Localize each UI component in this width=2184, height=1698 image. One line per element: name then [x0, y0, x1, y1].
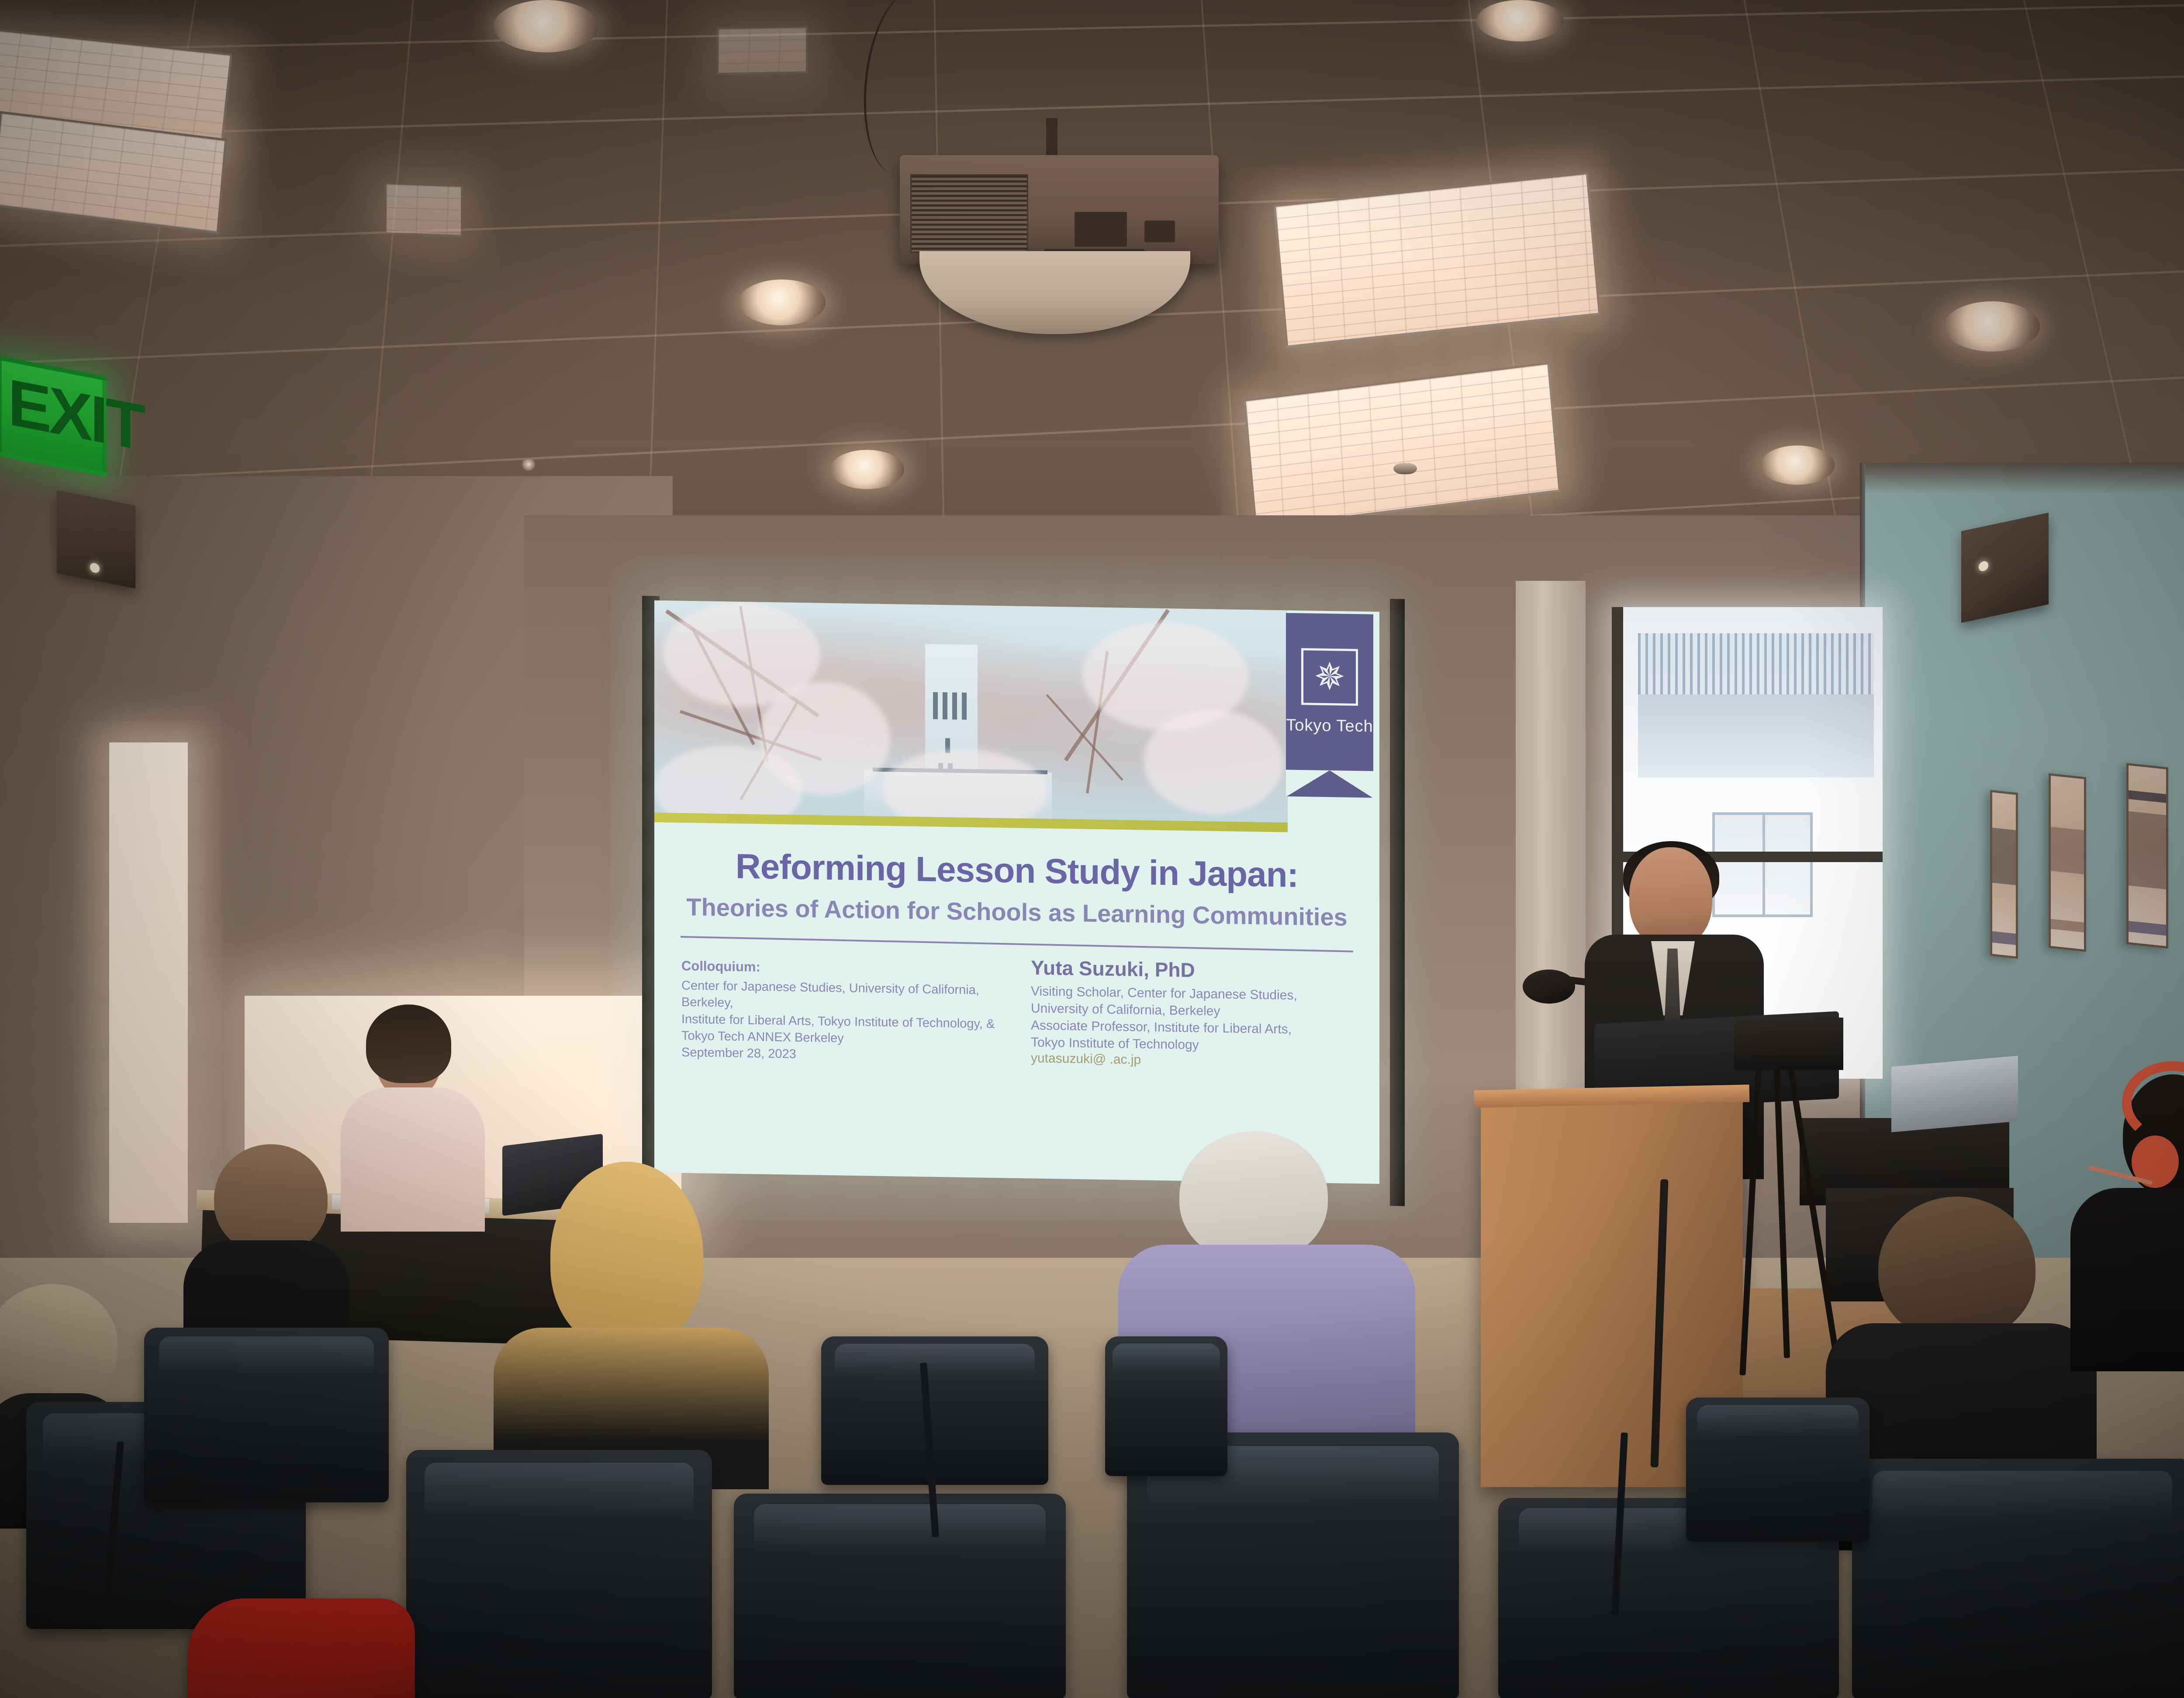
projected-slide: ✵ Tokyo Tech Reforming Lesson Study in J… — [654, 601, 1379, 1184]
operator-torso — [2070, 1188, 2184, 1371]
ceiling-projector — [900, 155, 1219, 264]
screen-edge-right — [1390, 599, 1405, 1206]
projector-vent — [910, 174, 1028, 253]
wall-art-panel — [2049, 773, 2086, 952]
left-window-light — [109, 742, 188, 1223]
chair[interactable] — [1686, 1398, 1870, 1542]
audience-hair — [550, 1162, 703, 1349]
microphone-head — [1523, 970, 1575, 1004]
operator-torso — [341, 1087, 485, 1232]
speaker-block: Yuta Suzuki, PhD Visiting Scholar, Cente… — [1031, 956, 1354, 1071]
colloquium-line: Center for Japanese Studies, University … — [681, 977, 996, 1016]
chair[interactable] — [821, 1336, 1048, 1485]
recessed-downlight — [738, 280, 826, 325]
operator-hair — [366, 1004, 451, 1083]
audience-hair — [0, 1284, 118, 1406]
audience-hair — [1179, 1131, 1328, 1262]
recessed-downlight — [1760, 445, 1835, 485]
slide-divider — [681, 936, 1353, 953]
tokyo-tech-logo: ✵ Tokyo Tech — [1286, 613, 1373, 797]
smoke-detector — [1393, 463, 1417, 474]
slide-header-photo — [654, 601, 1288, 829]
chair[interactable] — [1852, 1459, 2184, 1698]
sprinkler-head — [522, 458, 535, 471]
recessed-downlight — [1476, 0, 1564, 41]
projection-screen: ✵ Tokyo Tech Reforming Lesson Study in J… — [654, 601, 1393, 1193]
wall-pillar — [1516, 581, 1586, 1140]
lecture-room-photo: EXIT — [0, 0, 2184, 1698]
exit-sign-label: EXIT — [8, 369, 95, 451]
wall-art-panel — [2126, 763, 2168, 949]
bird-emblem-icon: ✵ — [1314, 658, 1345, 696]
recessed-downlight — [830, 450, 904, 489]
red-backpack — [188, 1598, 415, 1698]
chair[interactable] — [734, 1494, 1066, 1698]
audience-hair — [1878, 1197, 2035, 1341]
logo-frame: ✵ — [1301, 648, 1358, 706]
audience-hair — [214, 1144, 328, 1253]
chair[interactable] — [144, 1328, 389, 1502]
chair[interactable] — [1105, 1336, 1227, 1476]
logo-label: Tokyo Tech — [1286, 716, 1373, 736]
speaker-name: Yuta Suzuki, PhD — [1031, 956, 1354, 984]
presenter-head — [1629, 847, 1712, 948]
exit-sign: EXIT — [0, 355, 107, 477]
slide-subtitle: Theories of Action for Schools as Learni… — [654, 892, 1379, 932]
exterior-railing — [1638, 633, 1874, 694]
wall-art-panel — [1990, 790, 2018, 959]
slide-title: Reforming Lesson Study in Japan: — [654, 845, 1379, 897]
ceiling-light-panel — [716, 25, 808, 75]
av-monitor — [1891, 1056, 2018, 1132]
av-operator-with-headphones — [2070, 1057, 2184, 1371]
laptop-operator — [332, 1004, 489, 1223]
colloquium-block: Colloquium: Center for Japanese Studies,… — [681, 958, 996, 1066]
recessed-downlight — [494, 0, 598, 52]
audience-member — [489, 1162, 773, 1485]
camera-body — [1734, 1018, 1843, 1070]
wall-ceiling-seam — [1865, 463, 2184, 494]
wall-speaker-right — [1961, 513, 2049, 623]
chair[interactable] — [406, 1450, 712, 1698]
wall-speaker-left — [57, 490, 135, 589]
ceiling-light-panel — [384, 182, 463, 237]
colloquium-heading: Colloquium: — [681, 958, 996, 979]
recessed-downlight — [1944, 301, 2040, 352]
